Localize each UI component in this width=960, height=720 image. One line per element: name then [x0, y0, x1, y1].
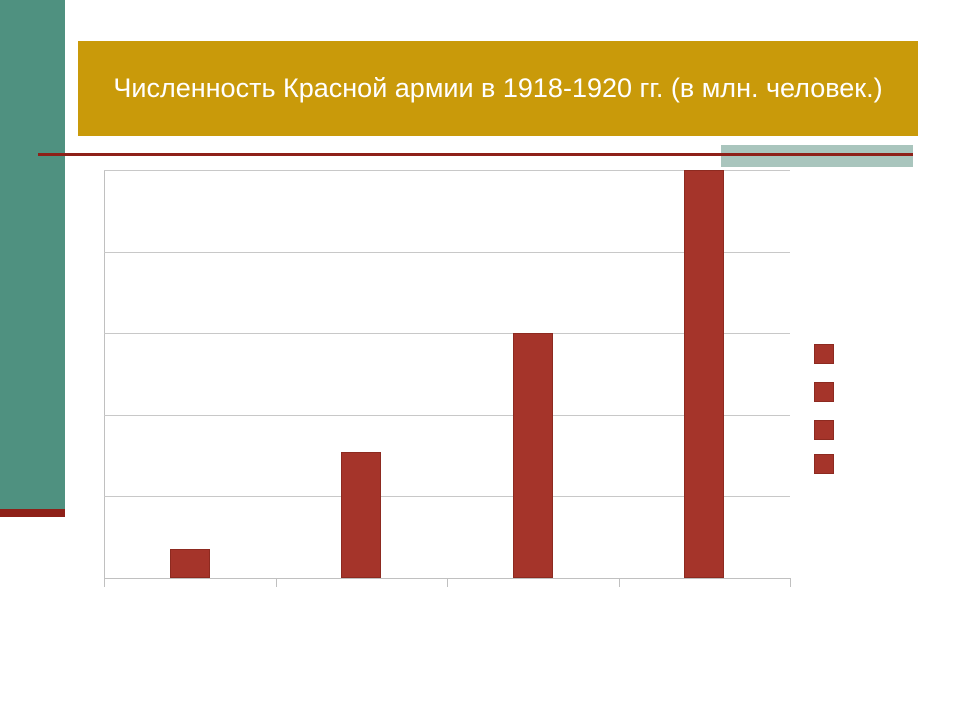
bar-chart	[104, 170, 790, 580]
chart-plot-area	[104, 170, 790, 578]
legend-swatch-1	[814, 344, 834, 364]
bar-2	[341, 452, 381, 578]
sidebar-green-band	[0, 0, 65, 509]
slide-canvas: Численность Красной армии в 1918-1920 гг…	[0, 0, 960, 720]
legend-item-4[interactable]	[814, 454, 834, 474]
title-box: Численность Красной армии в 1918-1920 гг…	[78, 41, 918, 136]
x-tick-3	[619, 578, 620, 587]
x-tick-4	[790, 578, 791, 587]
legend-item-1[interactable]	[814, 344, 834, 364]
decor-red-rule-overlay	[721, 153, 913, 156]
legend-swatch-3	[814, 420, 834, 440]
bar-4	[684, 170, 724, 578]
decor-sage-band	[721, 145, 913, 167]
bar-1	[170, 549, 210, 578]
legend-item-2[interactable]	[814, 382, 834, 402]
sidebar-red-foot	[0, 509, 65, 517]
legend-item-3[interactable]	[814, 420, 834, 440]
y-axis-line	[104, 170, 105, 578]
chart-legend	[814, 344, 848, 474]
x-tick-1	[276, 578, 277, 587]
page-title: Численность Красной армии в 1918-1920 гг…	[113, 71, 882, 107]
legend-swatch-4	[814, 454, 834, 474]
x-tick-0	[104, 578, 105, 587]
bar-3	[513, 333, 553, 578]
legend-swatch-2	[814, 382, 834, 402]
x-tick-2	[447, 578, 448, 587]
